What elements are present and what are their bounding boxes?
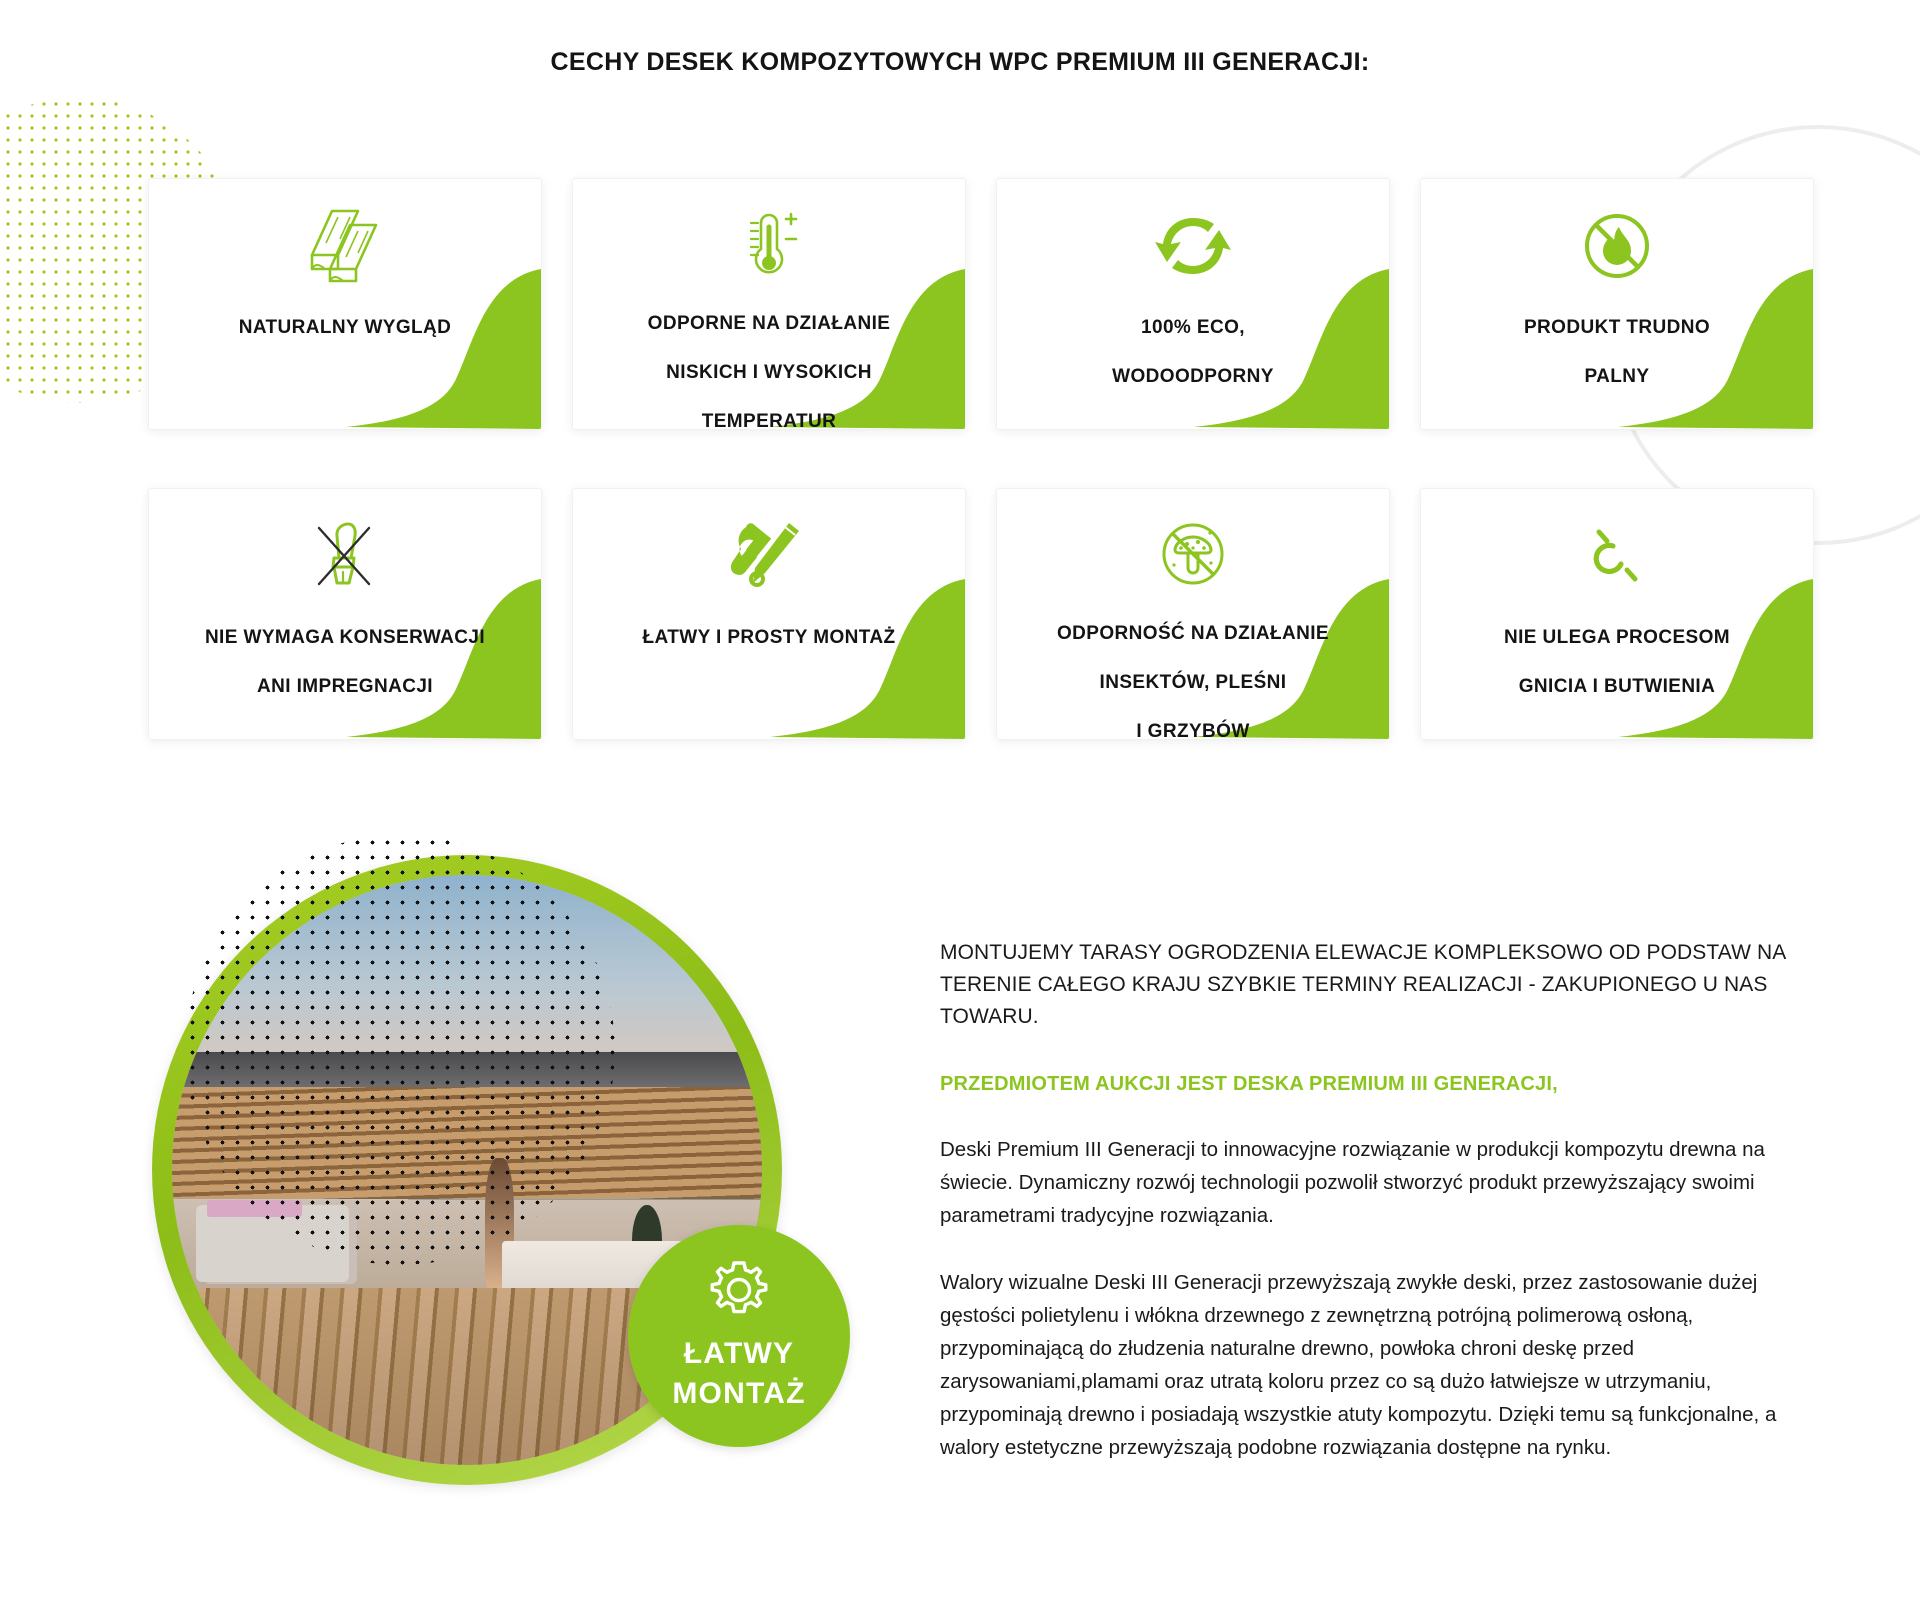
feature-card-konserwacja[interactable]: NIE WYMAGA KONSERWACJI ANI IMPREGNACJI [148,488,542,740]
card-labels: PRODUKT TRUDNO PALNY [1421,303,1813,401]
feature-card-naturalny-wyglad[interactable]: NATURALNY WYGLĄD [148,178,542,430]
card-labels: ŁATWY I PROSTY MONTAŻ [573,613,965,662]
card-label: GNICIA I BUTWIENIA [1421,662,1813,711]
badge-line-1: ŁATWY [684,1334,794,1374]
card-label: ODPORNE NA DZIAŁANIE [573,299,965,348]
feature-card-eco[interactable]: 100% ECO, WODOODPORNY [996,178,1390,430]
no-fire-icon [1577,205,1657,287]
lower-section: ŁATWY MONTAŻ MONTUJEMY TARASY OGRODZENIA… [0,800,1920,1615]
no-paintbrush-icon [303,515,387,597]
paragraph-1: Deski Premium III Generacji to innowacyj… [940,1133,1790,1232]
feature-card-trudnopalny[interactable]: PRODUKT TRUDNO PALNY [1420,178,1814,430]
card-label: ODPORNOŚĆ NA DZIAŁANIE [997,609,1389,658]
card-labels: ODPORNE NA DZIAŁANIE NISKICH I WYSOKICH … [573,299,965,430]
product-feature-page: CECHY DESEK KOMPOZYTOWYCH WPC PREMIUM II… [0,0,1920,1615]
card-label: ŁATWY I PROSTY MONTAŻ [573,613,965,662]
card-labels: 100% ECO, WODOODPORNY [997,303,1389,401]
badge-line-2: MONTAŻ [672,1374,805,1414]
card-labels: ODPORNOŚĆ NA DZIAŁANIE INSEKTÓW, PLEŚNI … [997,609,1389,740]
card-label: INSEKTÓW, PLEŚNI [997,658,1389,707]
card-label: NIE ULEGA PROCESOM [1421,613,1813,662]
feature-card-grid: NATURALNY WYGLĄD ODPORNE NA DZIAŁANIE [148,178,1828,740]
card-label: 100% ECO, [997,303,1389,352]
latwy-montaz-badge[interactable]: ŁATWY MONTAŻ [628,1225,850,1447]
card-label: PALNY [1421,352,1813,401]
gear-icon [708,1259,770,1326]
no-mushroom-icon [1152,515,1234,593]
card-labels: NIE WYMAGA KONSERWACJI ANI IMPREGNACJI [149,613,541,711]
card-labels: NIE ULEGA PROCESOM GNICIA I BUTWIENIA [1421,613,1813,711]
feature-card-montaz[interactable]: ŁATWY I PROSTY MONTAŻ [572,488,966,740]
card-label: I GRZYBÓW [997,707,1389,740]
feature-card-temperatura[interactable]: ODPORNE NA DZIAŁANIE NISKICH I WYSOKICH … [572,178,966,430]
description-column: MONTUJEMY TARASY OGRODZENIA ELEWACJE KOM… [940,937,1790,1464]
card-label: ANI IMPREGNACJI [149,662,541,711]
broken-link-icon [1577,515,1657,597]
feature-card-gnicie[interactable]: NIE ULEGA PROCESOM GNICIA I BUTWIENIA [1420,488,1814,740]
page-title: CECHY DESEK KOMPOZYTOWYCH WPC PREMIUM II… [0,48,1920,77]
tools-icon [727,515,811,597]
auction-highlight: PRZEDMIOTEM AUKCJI JEST DESKA PREMIUM II… [940,1069,1790,1099]
card-label: NISKICH I WYSOKICH [573,348,965,397]
paragraph-2: Walory wizualne Deski III Generacji prze… [940,1266,1790,1464]
card-label: NIE WYMAGA KONSERWACJI [149,613,541,662]
card-label: TEMPERATUR [573,397,965,430]
card-label: NATURALNY WYGLĄD [149,303,541,352]
thermometer-icon [729,205,809,283]
card-label: WODOODPORNY [997,352,1389,401]
recycle-icon [1153,205,1233,287]
feature-card-insekty[interactable]: ODPORNOŚĆ NA DZIAŁANIE INSEKTÓW, PLEŚNI … [996,488,1390,740]
card-labels: NATURALNY WYGLĄD [149,303,541,352]
card-label: PRODUKT TRUDNO [1421,303,1813,352]
wood-planks-icon [302,205,388,287]
intro-text: MONTUJEMY TARASY OGRODZENIA ELEWACJE KOM… [940,937,1790,1033]
decorative-black-dots [185,835,615,1265]
